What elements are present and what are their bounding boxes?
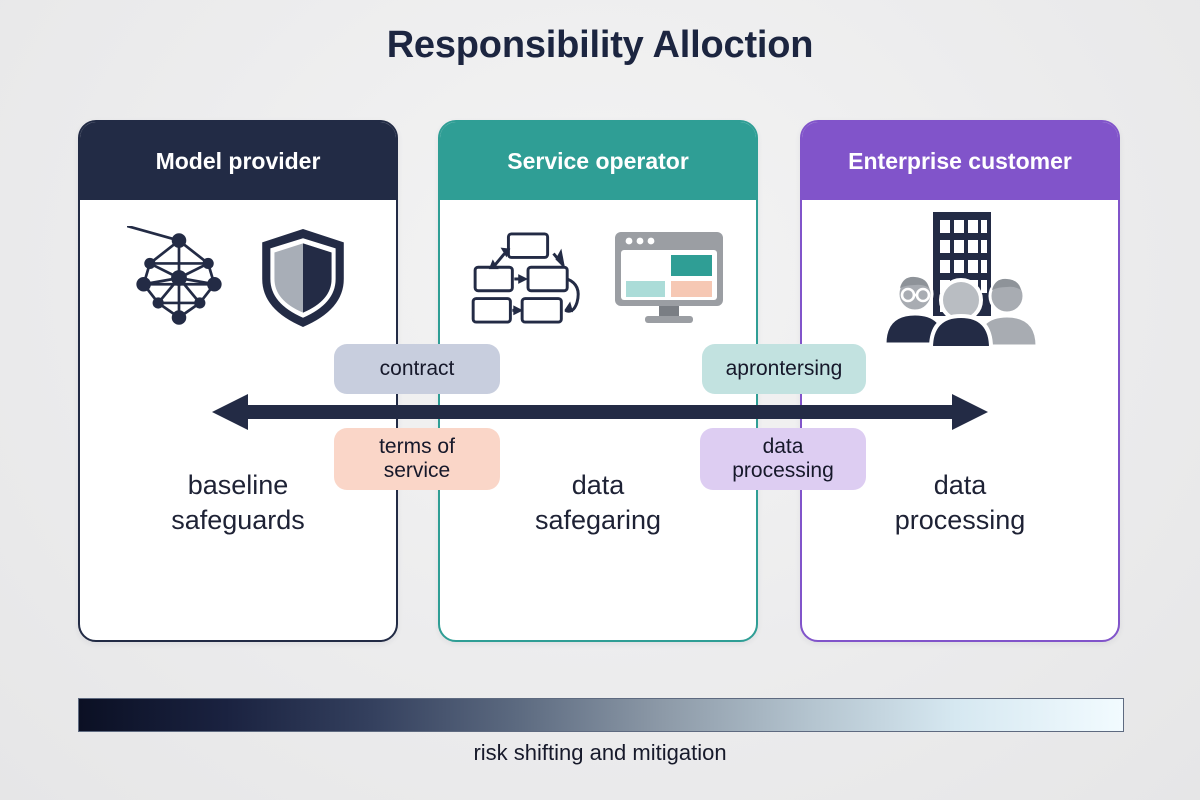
pill-label: terms of service (379, 435, 455, 484)
monitor-dashboard-icon (613, 230, 725, 326)
column-icons-service-operator (440, 200, 756, 350)
column-body-line2: safeguards (80, 503, 396, 538)
pill-label-line1: terms of (379, 435, 455, 458)
pill-label-line1: data (763, 435, 804, 458)
page-title: Responsibility Alloction (0, 24, 1200, 67)
risk-gradient-bar (78, 698, 1124, 732)
building-with-people-icon (873, 208, 1048, 348)
pill-label-line2: processing (732, 459, 834, 482)
diagram-canvas: Responsibility Alloction Model provider (0, 0, 1200, 800)
column-header-model-provider: Model provider (80, 122, 396, 200)
column-header-enterprise-customer: Enterprise customer (802, 122, 1118, 200)
pill-label: aprontersing (726, 357, 843, 381)
risk-shifting-arrow (210, 392, 990, 432)
pill-data-processing[interactable]: data processing (700, 428, 866, 490)
column-body-line2: safegaring (440, 503, 756, 538)
pill-terms-of-service[interactable]: terms of service (334, 428, 500, 490)
column-body-line2: processing (802, 503, 1118, 538)
column-icons-enterprise-customer (802, 200, 1118, 350)
column-icons-model-provider (80, 200, 396, 350)
gradient-caption: risk shifting and mitigation (0, 740, 1200, 766)
column-header-service-operator: Service operator (440, 122, 756, 200)
flowchart-icon (471, 230, 587, 326)
pill-label: data processing (732, 435, 834, 484)
pill-aprontersing[interactable]: aprontersing (702, 344, 866, 394)
network-graph-icon (127, 226, 231, 330)
pill-label-line2: service (384, 459, 451, 482)
pill-contract[interactable]: contract (334, 344, 500, 394)
shield-icon (257, 226, 349, 330)
pill-label: contract (380, 357, 455, 381)
